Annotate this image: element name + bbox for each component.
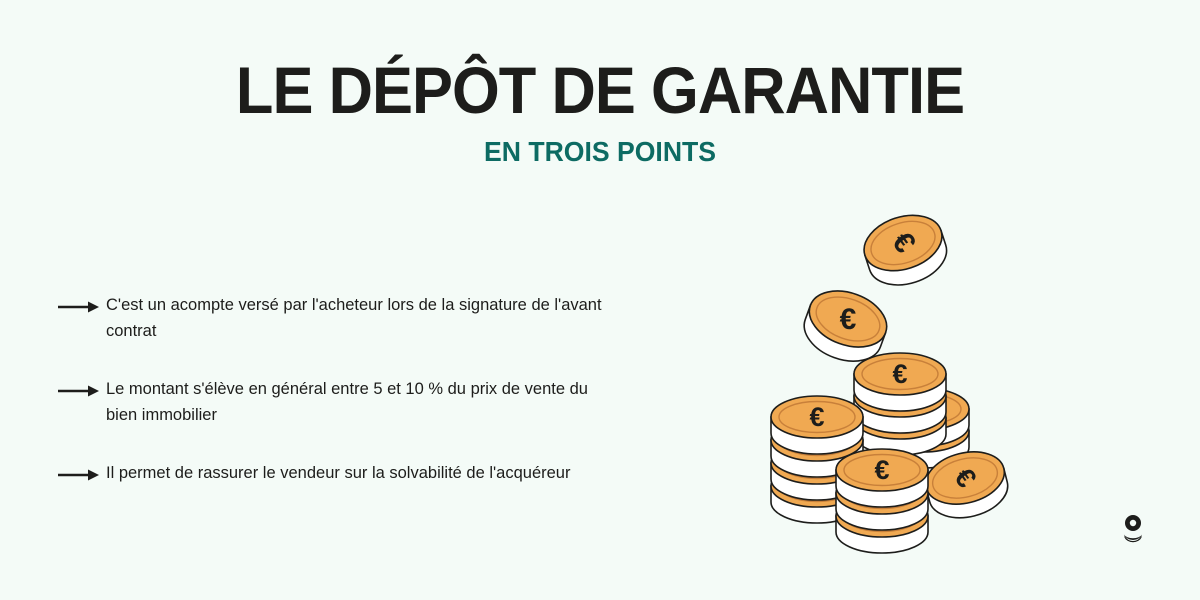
list-item-text: Il permet de rassurer le vendeur sur la … xyxy=(104,460,570,486)
svg-text:€: € xyxy=(892,359,907,389)
list-item: Le montant s'élève en général entre 5 et… xyxy=(56,376,636,428)
svg-text:€: € xyxy=(840,303,857,336)
coin-stack-center-back: € xyxy=(854,353,946,455)
list-item: C'est un acompte versé par l'acheteur lo… xyxy=(56,292,636,344)
bullet-list: C'est un acompte versé par l'acheteur lo… xyxy=(56,292,636,488)
list-item: Il permet de rassurer le vendeur sur la … xyxy=(56,460,636,488)
long-right-arrow-icon xyxy=(56,294,104,320)
list-item-text: Le montant s'élève en général entre 5 et… xyxy=(104,376,616,428)
slide-canvas: LE DÉPÔT DE GARANTIE EN TROIS POINTS C'e… xyxy=(0,0,1200,600)
brand-logo-icon xyxy=(1119,512,1147,544)
header: LE DÉPÔT DE GARANTIE EN TROIS POINTS xyxy=(0,54,1200,168)
list-item-text: C'est un acompte versé par l'acheteur lo… xyxy=(104,292,616,344)
coin-stack-front-center: € xyxy=(836,449,928,553)
page-subtitle: EN TROIS POINTS xyxy=(30,136,1170,168)
euro-coins-illustration: € € € xyxy=(760,196,1030,556)
long-right-arrow-icon xyxy=(56,378,104,404)
svg-text:€: € xyxy=(874,455,889,485)
long-right-arrow-icon xyxy=(56,462,104,488)
svg-text:€: € xyxy=(809,402,824,432)
coin-falling-top: € xyxy=(857,206,954,294)
page-title: LE DÉPÔT DE GARANTIE xyxy=(42,54,1158,126)
